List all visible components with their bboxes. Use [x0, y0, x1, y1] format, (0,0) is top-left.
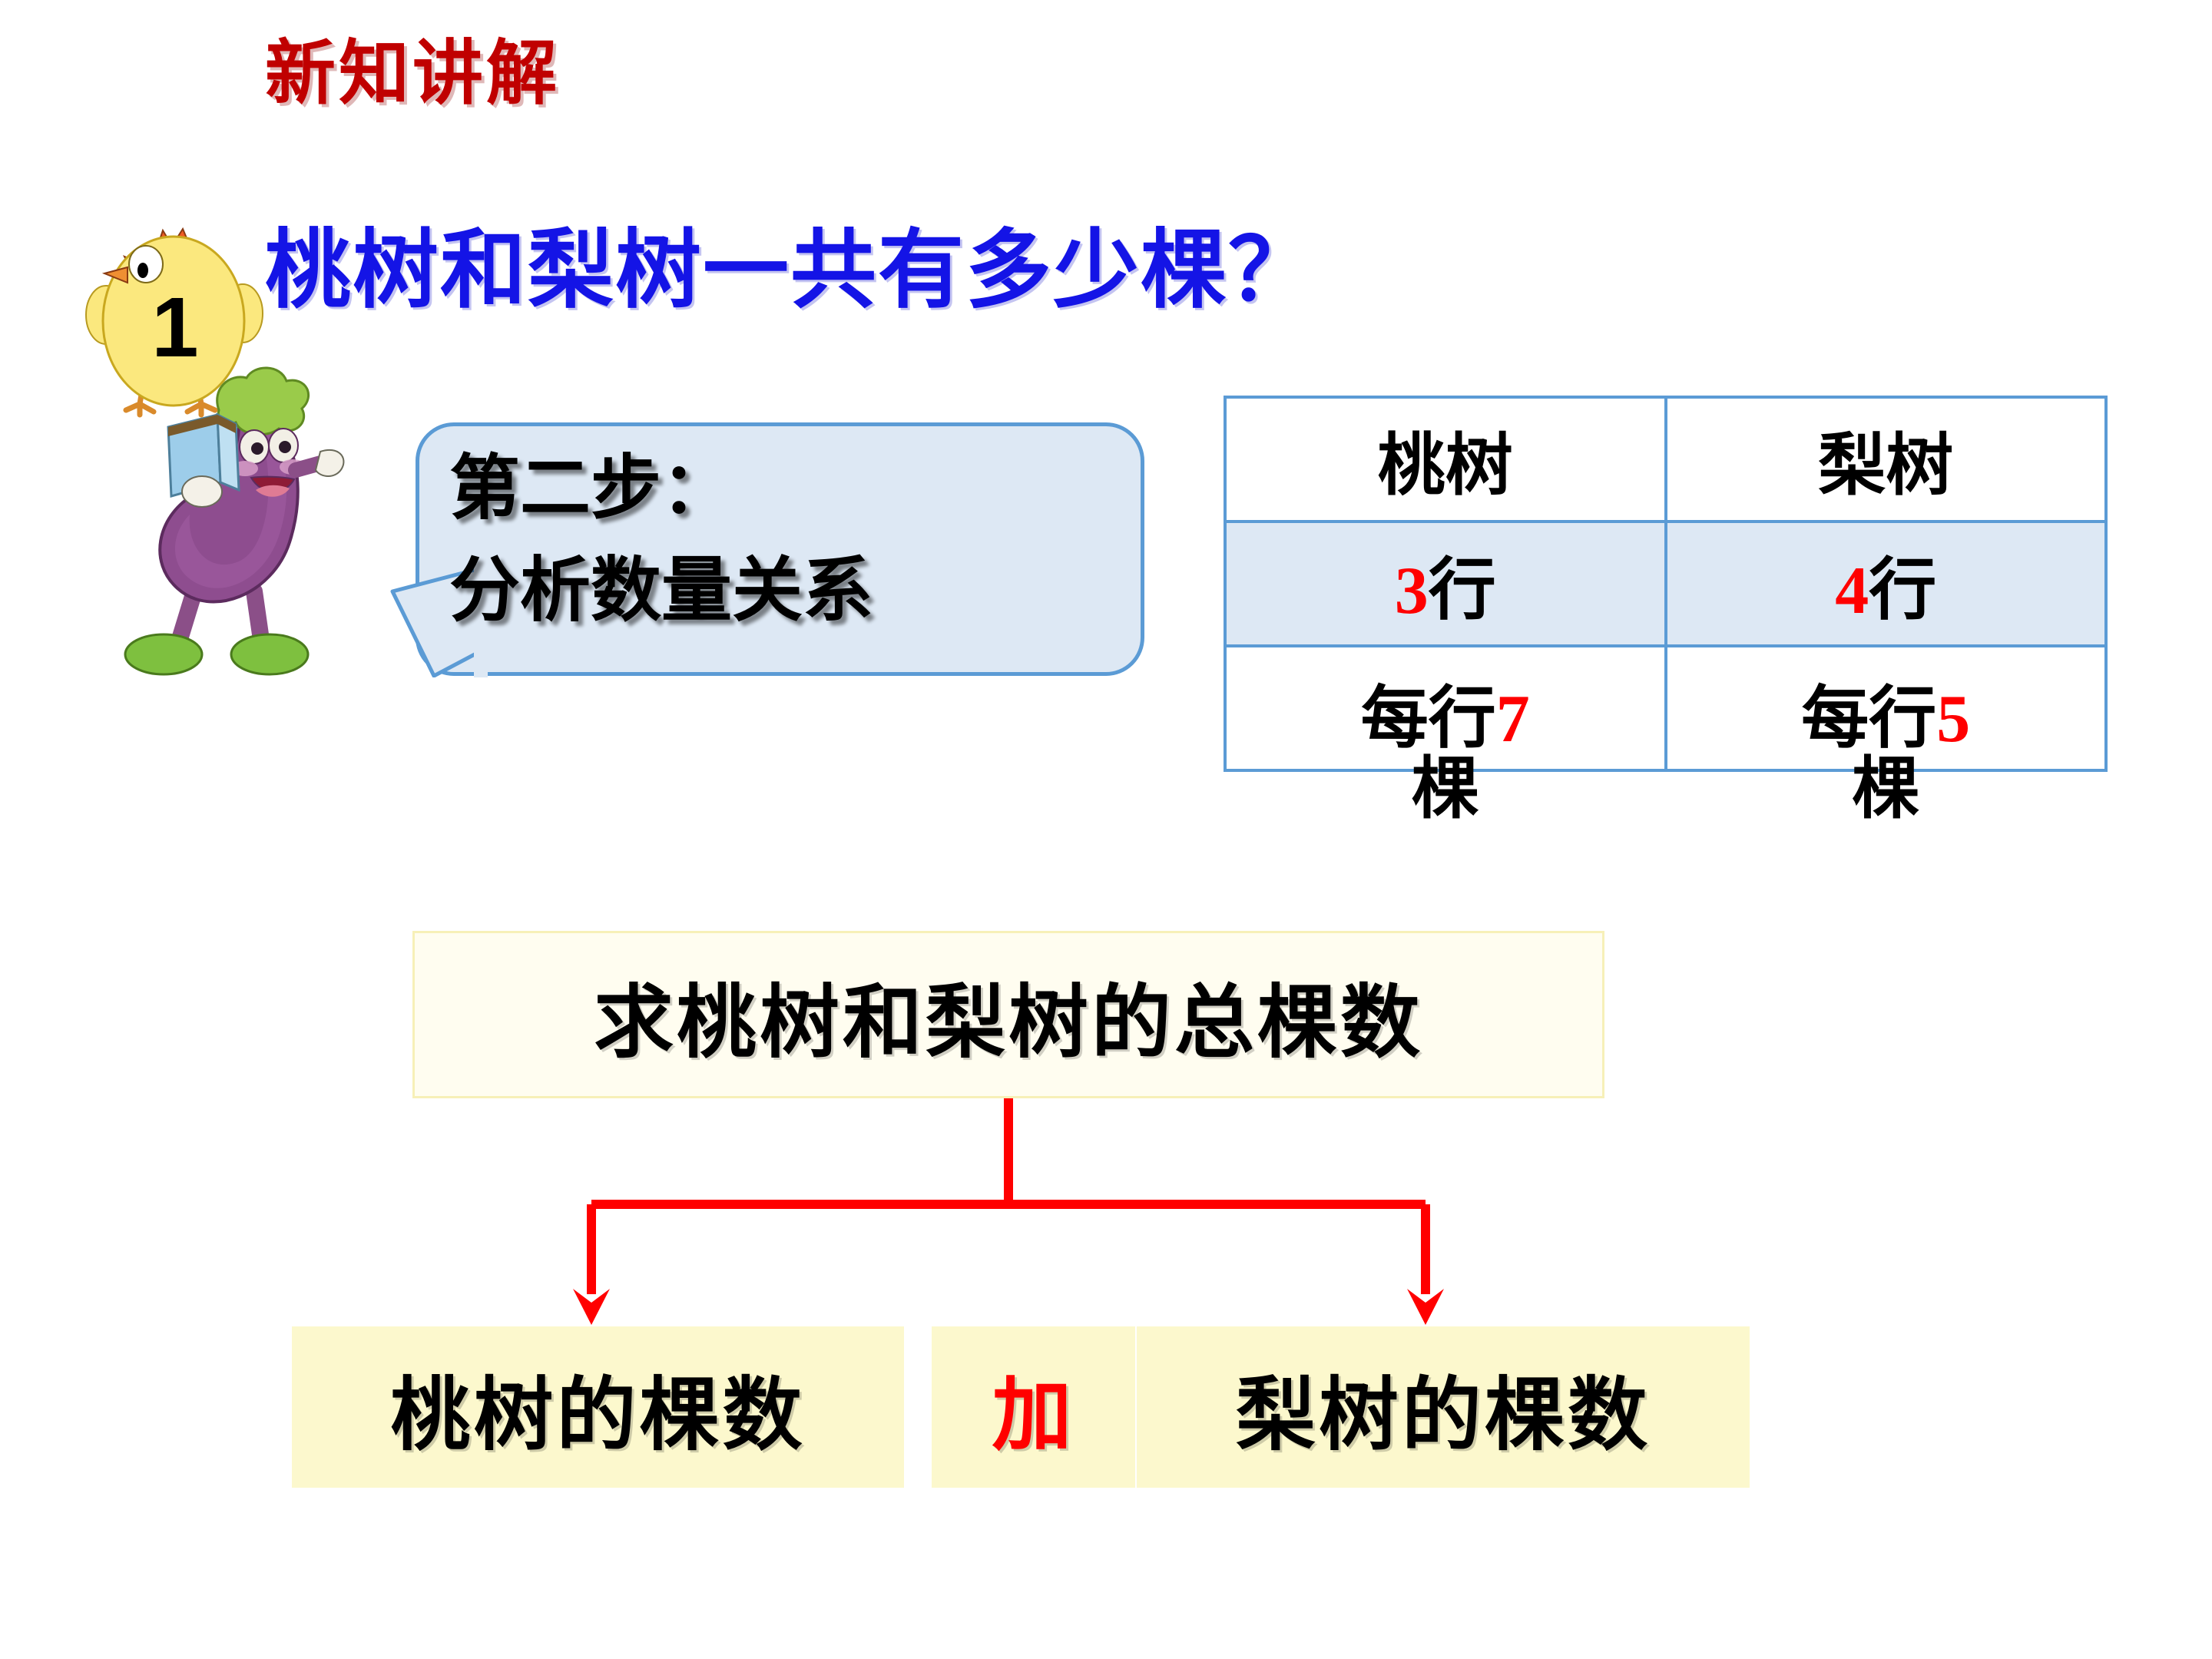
peach-row-unit: 行 [1429, 554, 1496, 628]
left-operand-box: 桃树的棵数 [292, 1326, 904, 1488]
total-statement-text: 求桃树和梨树的总棵数 [594, 957, 1423, 1073]
right-operand-box: 梨树的棵数 [1137, 1326, 1750, 1488]
pear-per-row-wrap: 每行5棵 [1667, 684, 2105, 826]
table-header-pear: 梨树 [1666, 397, 2107, 522]
bubble-text: 第二步： 分析数量关系 [449, 438, 1125, 643]
down-arrow-icon-left [573, 1289, 610, 1325]
table-cell-pear-rows: 4行 [1666, 522, 2107, 646]
peach-per-row-count: 7 [1496, 682, 1530, 757]
pear-row-count: 4 [1835, 554, 1869, 628]
operator-box: 加 [932, 1326, 1135, 1488]
table-row-header: 桃树 梨树 [1225, 397, 2106, 522]
table-cell-peach-rows: 3行 [1225, 522, 1666, 646]
peach-per-row-wrap: 每行7棵 [1227, 684, 1664, 826]
tree-data-table: 桃树 梨树 3行 4行 每行7棵 每行5棵 [1224, 396, 2108, 772]
total-statement-box: 求桃树和梨树的总棵数 [412, 931, 1604, 1098]
eggplant-svg [104, 361, 349, 676]
pear-row-unit: 行 [1869, 554, 1936, 628]
operator-text: 加 [992, 1349, 1075, 1465]
peach-per-row-prefix: 每行 [1361, 682, 1496, 757]
peach-row-count: 3 [1395, 554, 1429, 628]
down-arrow-icon-right [1407, 1289, 1444, 1325]
pear-per-row-suffix: 棵 [1852, 753, 1919, 827]
table-row-rows: 3行 4行 [1225, 522, 2106, 646]
eggplant-mascot-icon [104, 361, 349, 676]
right-operand-text: 梨树的棵数 [1236, 1349, 1651, 1465]
pear-per-row-prefix: 每行 [1801, 682, 1936, 757]
left-operand-text: 桃树的棵数 [390, 1349, 805, 1465]
table-row-per-row: 每行7棵 每行5棵 [1225, 646, 2106, 770]
table-cell-pear-per-row: 每行5棵 [1666, 646, 2107, 770]
bubble-line-2: 分析数量关系 [449, 540, 1125, 642]
table-cell-peach-per-row: 每行7棵 [1225, 646, 1666, 770]
page-title: 新知讲解 [265, 38, 560, 109]
slide-canvas: 新知讲解 1 [0, 0, 2212, 1659]
question-text: 桃树和梨树一共有多少棵？ [265, 227, 1316, 317]
bubble-line-1: 第二步： [449, 438, 1125, 540]
peach-per-row-suffix: 棵 [1412, 753, 1479, 827]
flow-connector-arrows [0, 1091, 2212, 1336]
table-header-peach: 桃树 [1225, 397, 1666, 522]
pear-per-row-count: 5 [1936, 682, 1970, 757]
step-callout-bubble: 第二步： 分析数量关系 [388, 422, 1144, 676]
